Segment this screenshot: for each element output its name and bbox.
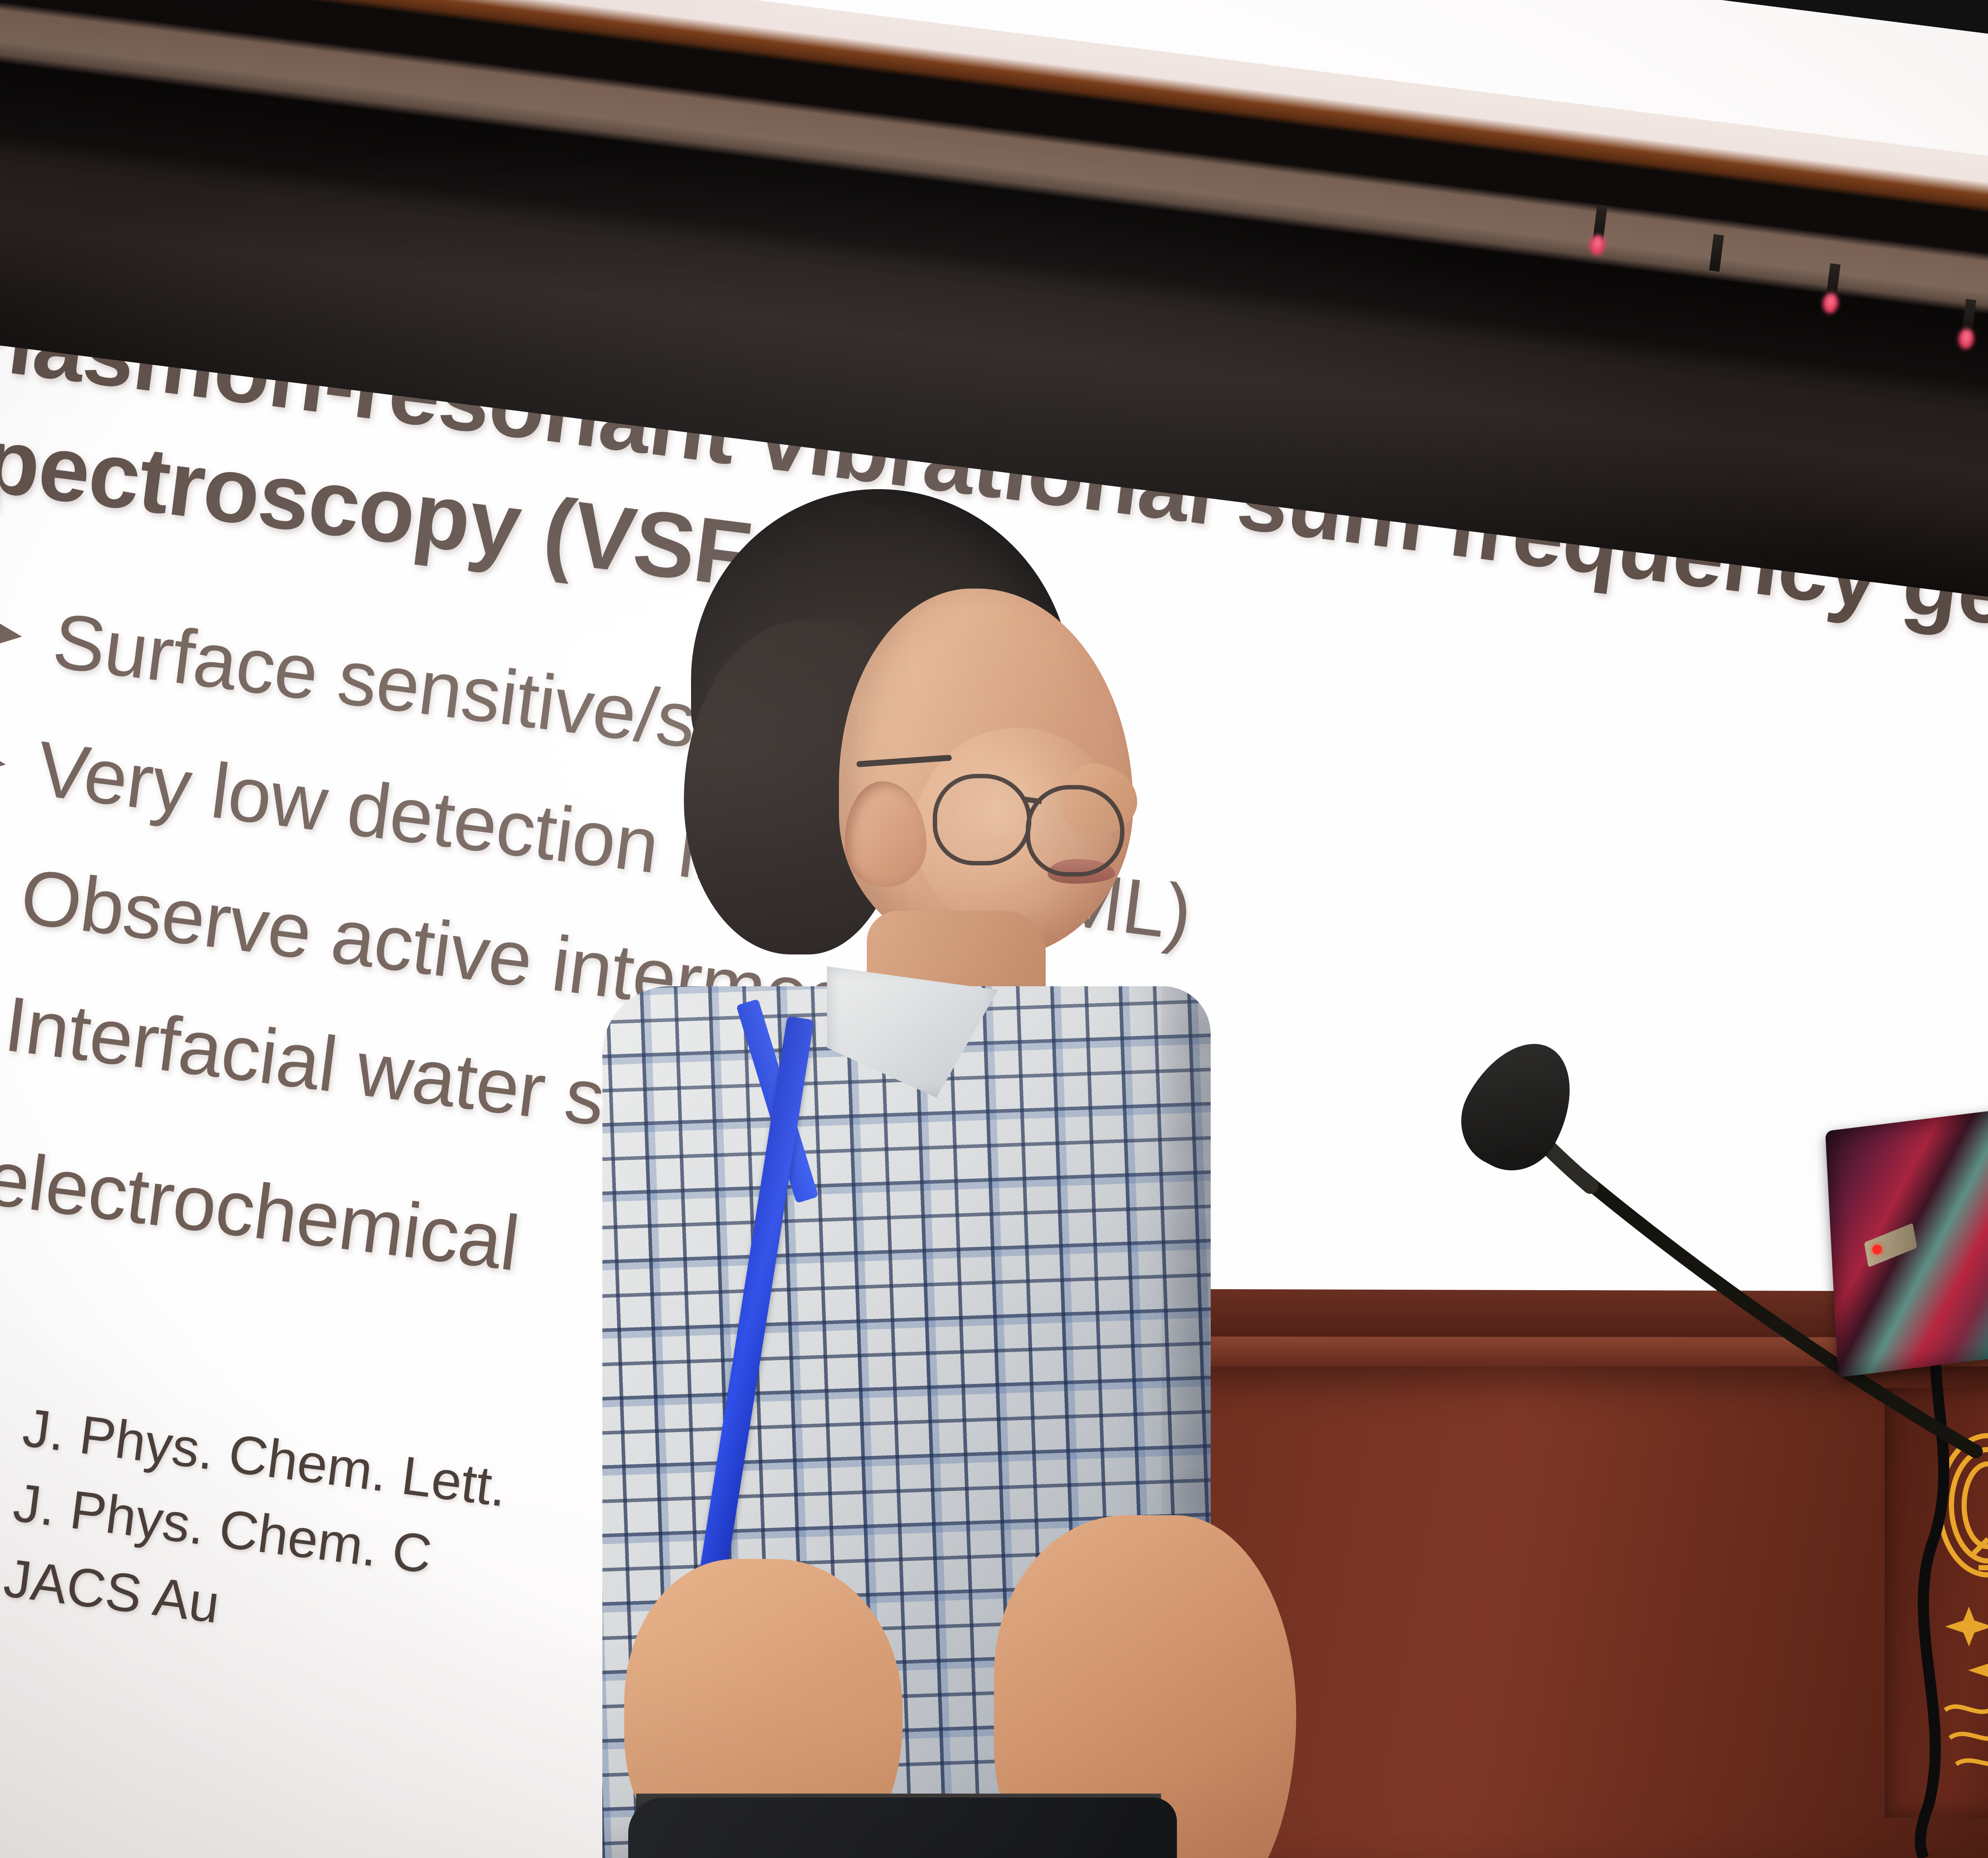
laptop-power-indicator-icon bbox=[1872, 1245, 1882, 1254]
arrow-bullet-icon bbox=[0, 719, 35, 806]
arrow-bullet-icon bbox=[0, 847, 19, 934]
speaker bbox=[565, 489, 1320, 1858]
slide-references: J. Phys. Chem. Lett. J. Phys. Chem. C JA… bbox=[0, 1390, 511, 1676]
spotlight-icon bbox=[1592, 205, 1607, 243]
spotlight-icon bbox=[1826, 263, 1840, 301]
eyeglasses-icon bbox=[895, 760, 1149, 879]
eyeglass-lens-left bbox=[933, 774, 1031, 865]
laptop bbox=[1831, 1114, 1988, 1360]
speaker-trousers bbox=[628, 1798, 1177, 1858]
spotlight-icon bbox=[1961, 299, 1976, 337]
spotlight-icon bbox=[1709, 234, 1724, 272]
auditorium-scene: 方法 Plasmon-resonant vibrational sum freq… bbox=[0, 0, 1988, 1858]
arrow-bullet-icon bbox=[0, 591, 51, 678]
